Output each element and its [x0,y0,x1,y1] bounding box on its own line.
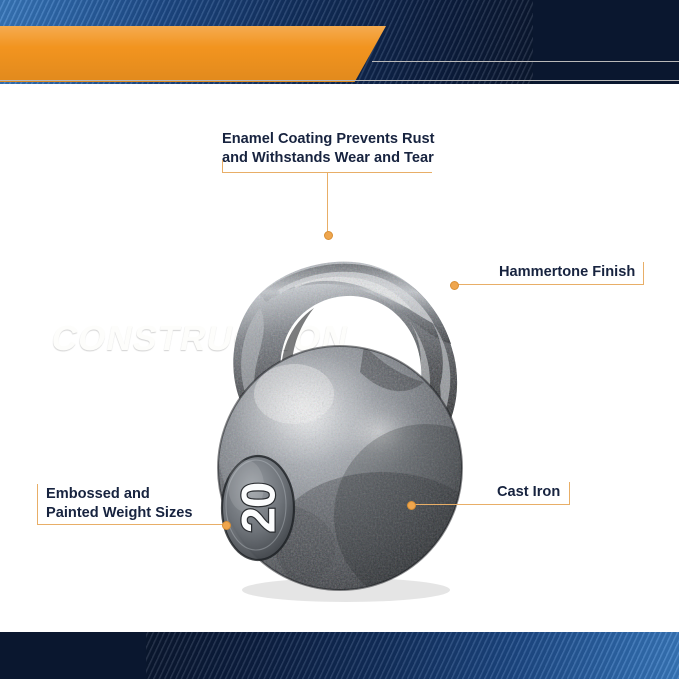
callout-tick-hammertone-finish [643,262,644,285]
callout-label-embossed-painted-weight-sizes: Embossed and Painted Weight Sizes [46,485,266,523]
header-dark-notch [533,0,679,84]
callout-label-enamel-coating: Enamel Coating Prevents Rust and Withsta… [222,130,452,168]
callout-tick-cast-iron [569,482,570,505]
header-rule-kink [352,62,380,82]
callout-dot-embossed-painted-weight-sizes [222,521,231,530]
callout-tick-embossed-painted-weight-sizes [37,484,38,525]
callout-underline-hammertone-finish [455,284,644,285]
callout-label-hammertone-finish: Hammertone Finish [499,263,659,282]
ribbon-sheen [0,26,386,82]
callout-label-cast-iron: Cast Iron [497,483,627,502]
callout-dot-cast-iron [407,501,416,510]
footer-band [0,632,679,679]
header-rule [0,80,679,81]
kettlebell-image: 20 [168,186,508,606]
callout-dot-hammertone-finish [450,281,459,290]
callout-underline-cast-iron [412,504,570,505]
header-rule-upper [372,61,679,62]
header-ribbon [0,26,386,82]
callout-underline-embossed-painted-weight-sizes [37,524,226,525]
infographic-canvas: CONSTRUCTION [0,0,679,679]
footer-dark-notch [0,632,146,679]
callout-dot-enamel-coating [324,231,333,240]
callout-leader-enamel-coating [327,172,328,234]
callout-tick-enamel-coating [222,160,223,173]
